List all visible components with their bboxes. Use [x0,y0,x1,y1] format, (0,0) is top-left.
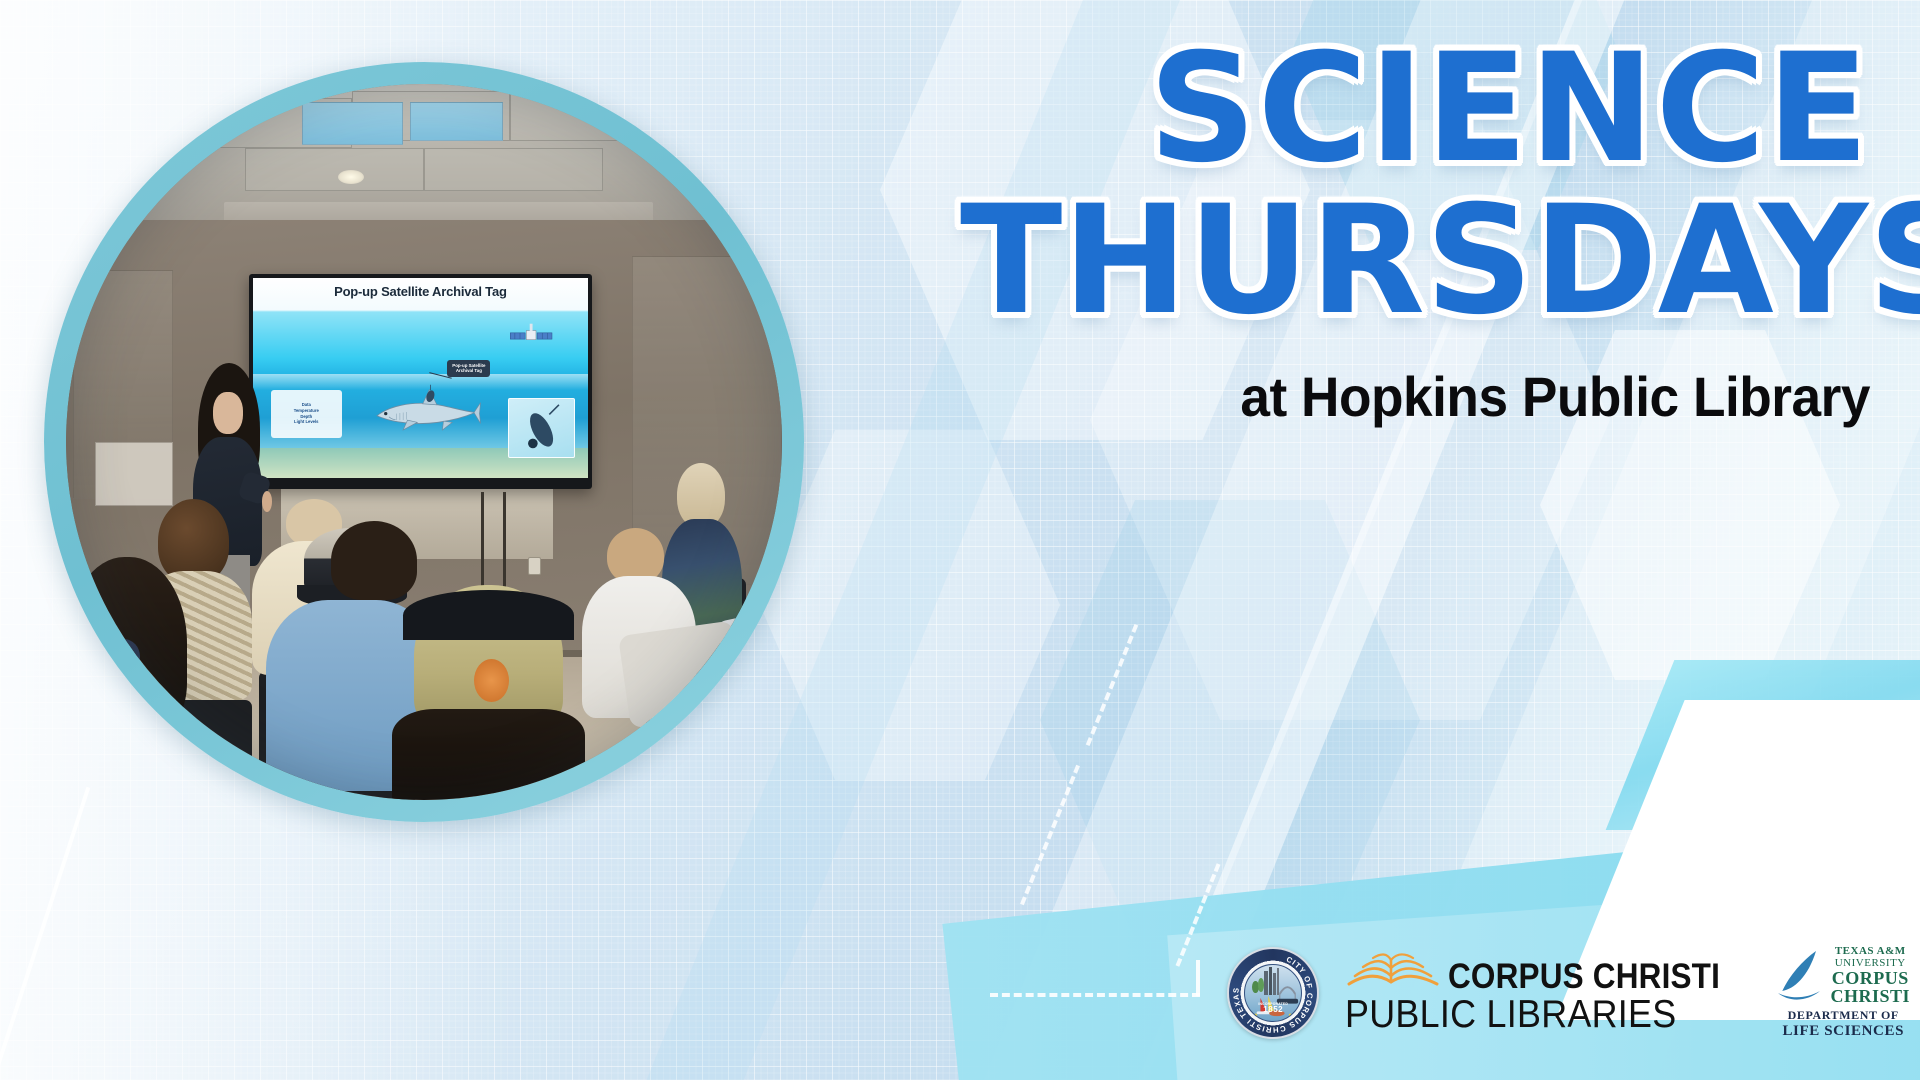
library-logo-top-row: CORPUS CHRISTI [1345,950,1750,994]
title-line-thursdays: THURSDAYS [960,192,1870,330]
city-of-corpus-christi-seal-logo: CITY OF CORPUS CHRISTI TEXAS CITY OF COR… [1227,947,1319,1039]
subtitle-location: at Hopkins Public Library [1006,364,1871,429]
presentation-photo: Pop-up Satellite Archival Tag [66,84,782,800]
open-book-icon [1345,950,1441,994]
tamucc-line-1: TEXAS A&M [1830,946,1910,957]
logo-row: CITY OF CORPUS CHRISTI TEXAS CITY OF COR… [1010,928,1910,1058]
city-seal: CITY OF CORPUS CHRISTI TEXAS CITY OF COR… [1227,947,1319,1039]
library-name-line-2: PUBLIC LIBRARIES [1345,995,1718,1036]
tamucc-wordmark: TEXAS A&M UNIVERSITY CORPUS CHRISTI [1830,946,1910,1005]
tamucc-life-sciences-logo: TEXAS A&M UNIVERSITY CORPUS CHRISTI DEPA… [1776,946,1910,1039]
department-line-1: DEPARTMENT OF [1782,1009,1904,1022]
islander-sail-icon [1776,949,1824,1003]
tamucc-department-label: DEPARTMENT OF LIFE SCIENCES [1782,1009,1904,1039]
tamucc-logo-top: TEXAS A&M UNIVERSITY CORPUS CHRISTI [1776,946,1910,1005]
seal-inner-scene: INCORPORATED 1852 [1244,964,1302,1022]
corpus-christi-public-libraries-logo: CORPUS CHRISTI PUBLIC LIBRARIES [1345,950,1750,1036]
tamucc-line-4: CHRISTI [1830,987,1910,1005]
photo-vignette [66,84,782,800]
tamucc-logo-stack: TEXAS A&M UNIVERSITY CORPUS CHRISTI DEPA… [1776,946,1910,1039]
title-line-science: SCIENCE [960,40,1870,178]
library-name-line-1: CORPUS CHRISTI [1448,959,1720,994]
attendee-body [66,712,206,800]
tamucc-line-3: CORPUS [1830,969,1910,987]
title-block: SCIENCE THURSDAYS at Hopkins Public Libr… [960,40,1870,429]
photo-circle-frame: Pop-up Satellite Archival Tag [44,62,804,822]
department-line-2: LIFE SCIENCES [1782,1023,1904,1040]
seal-year: 1852 [1245,1005,1301,1014]
library-logo-stack: CORPUS CHRISTI PUBLIC LIBRARIES [1345,950,1750,1036]
